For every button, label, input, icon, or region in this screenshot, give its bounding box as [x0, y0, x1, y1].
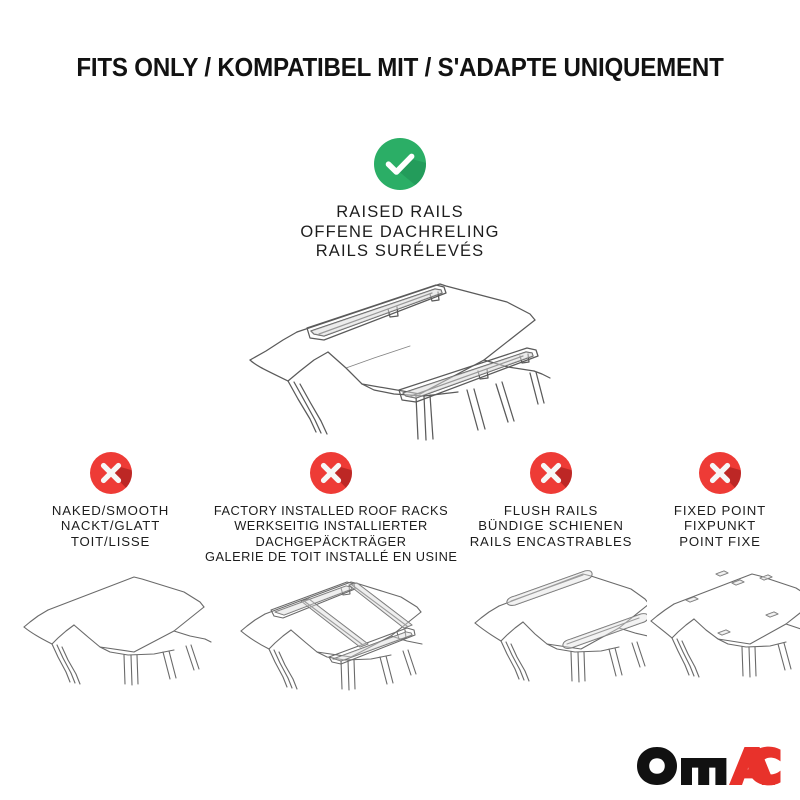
label-line-2: FIXPUNKT [640, 518, 800, 533]
car-roof-factory-roof-racks-illustration [205, 558, 457, 698]
car-roof-with-raised-rails-illustration [178, 272, 626, 452]
check-circle-icon [374, 138, 426, 190]
compatible-labels: RAISED RAILS OFFENE DACHRELING RAILS SUR… [0, 203, 800, 262]
compatible-label-de: OFFENE DACHRELING [0, 223, 800, 243]
label-line-1: FACTORY INSTALLED ROOF RACKS [205, 503, 457, 518]
compatible-label-fr: RAILS SURÉLEVÉS [0, 242, 800, 262]
label-line-1: FLUSH RAILS [455, 503, 647, 518]
compatible-label-en: RAISED RAILS [0, 203, 800, 223]
label-line-2: WERKSEITIG INSTALLIERTER [205, 518, 457, 533]
page-title: FITS ONLY / KOMPATIBEL MIT / S'ADAPTE UN… [22, 54, 778, 83]
incompatible-item-fixed-point: FIXED POINT FIXPUNKT POINT FIXE [640, 452, 800, 549]
incompatible-labels: FACTORY INSTALLED ROOF RACKS WERKSEITIG … [205, 503, 457, 565]
label-line-2: NACKT/GLATT [8, 518, 213, 533]
x-circle-icon [530, 452, 572, 494]
label-line-3: DACHGEPÄCKTRÄGER [205, 534, 457, 549]
infographic-page: FITS ONLY / KOMPATIBEL MIT / S'ADAPTE UN… [0, 0, 800, 800]
x-circle-icon [699, 452, 741, 494]
incompatible-item-naked-smooth: NAKED/SMOOTH NACKT/GLATT TOIT/LISSE [8, 452, 213, 549]
label-line-3: RAILS ENCASTRABLES [455, 534, 647, 549]
incompatible-item-factory-roof-racks: FACTORY INSTALLED ROOF RACKS WERKSEITIG … [205, 452, 457, 565]
incompatible-labels: FLUSH RAILS BÜNDIGE SCHIENEN RAILS ENCAS… [455, 503, 647, 549]
label-line-3: TOIT/LISSE [8, 534, 213, 549]
omac-logo: OMAC [636, 746, 782, 786]
car-roof-naked-smooth-illustration [8, 548, 213, 688]
incompatible-item-flush-rails: FLUSH RAILS BÜNDIGE SCHIENEN RAILS ENCAS… [455, 452, 647, 549]
x-circle-icon [310, 452, 352, 494]
incompatible-section: NAKED/SMOOTH NACKT/GLATT TOIT/LISSE [0, 452, 800, 702]
car-roof-fixed-point-illustration [640, 542, 800, 682]
car-roof-flush-rails-illustration [455, 548, 647, 688]
label-line-1: NAKED/SMOOTH [8, 503, 213, 518]
label-line-2: BÜNDIGE SCHIENEN [455, 518, 647, 533]
incompatible-labels: NAKED/SMOOTH NACKT/GLATT TOIT/LISSE [8, 503, 213, 549]
x-circle-icon [90, 452, 132, 494]
label-line-1: FIXED POINT [640, 503, 800, 518]
header: FITS ONLY / KOMPATIBEL MIT / S'ADAPTE UN… [0, 54, 800, 83]
compatible-section: RAISED RAILS OFFENE DACHRELING RAILS SUR… [0, 138, 800, 262]
